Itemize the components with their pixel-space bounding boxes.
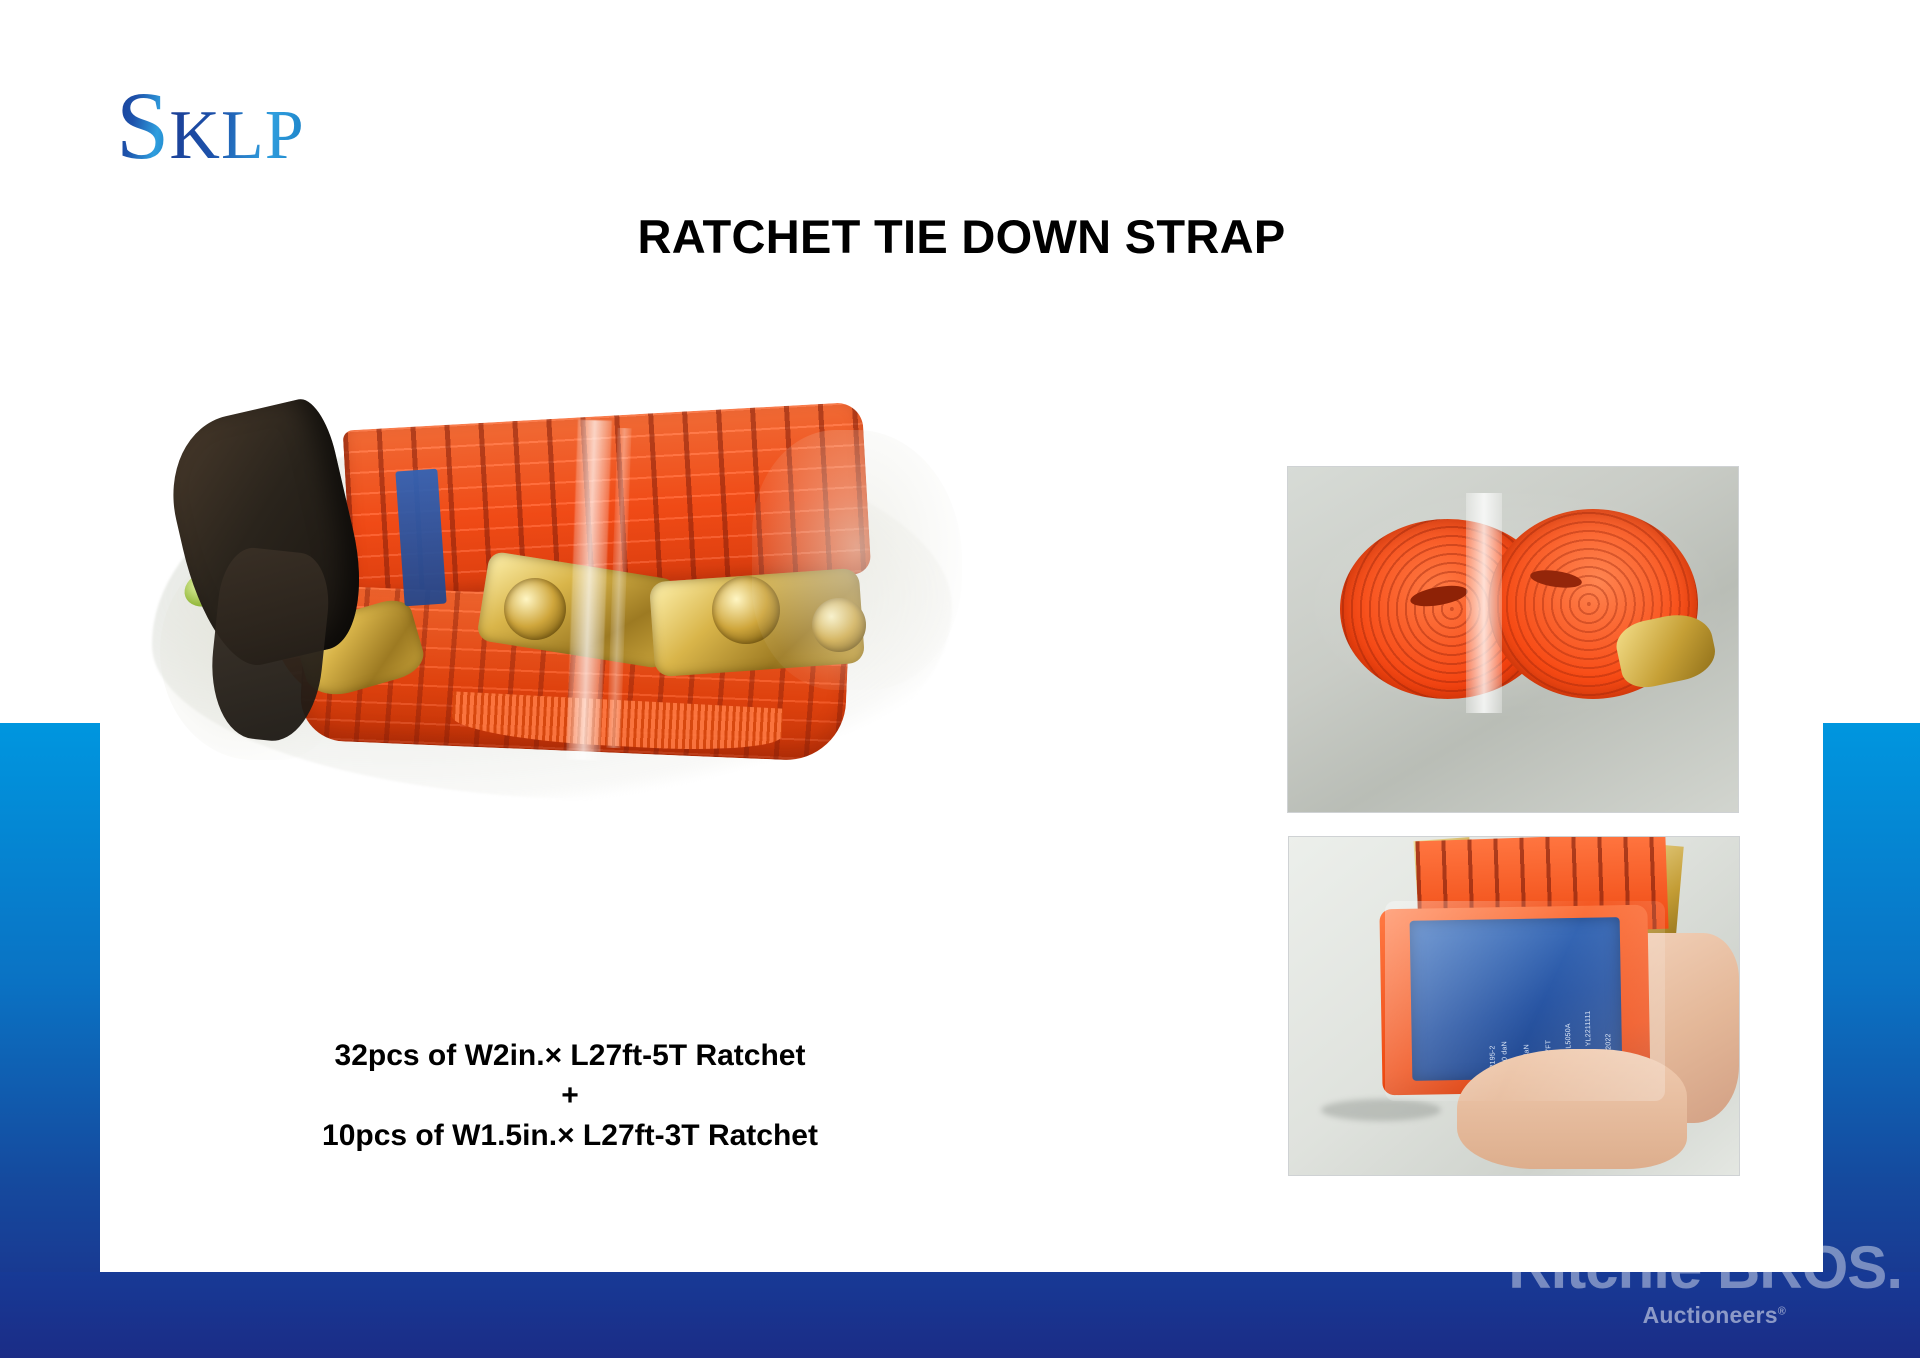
page-title: RATCHET TIE DOWN STRAP bbox=[100, 209, 1823, 264]
plastic-wrap-right bbox=[752, 430, 962, 690]
thumbnail-hand-holding-label[interactable]: EN 12195-2 LC 5000 daN Sₕf 350 daN Lengt… bbox=[1288, 836, 1740, 1176]
sklp-logo: SKLP bbox=[116, 78, 305, 174]
decorative-band-right bbox=[1823, 723, 1920, 1358]
product-caption: 32pcs of W2in.× L27ft-5T Ratchet + 10pcs… bbox=[100, 1036, 1040, 1156]
decorative-band-bottom bbox=[0, 1272, 1920, 1358]
logo-lead-letter: S bbox=[116, 72, 169, 179]
caption-line-3: 10pcs of W1.5in.× L27ft-3T Ratchet bbox=[100, 1116, 1040, 1156]
product-slide: SKLP RATCHET TIE DOWN STRAP 32pcs of W2i… bbox=[0, 0, 1920, 1358]
main-product-photo bbox=[152, 400, 952, 820]
logo-rest-letters: KLP bbox=[169, 97, 304, 174]
thumb2-surface-smudge bbox=[1321, 1099, 1441, 1121]
thumb1-wrap-band bbox=[1466, 493, 1502, 713]
caption-line-2: + bbox=[100, 1076, 1040, 1116]
thumbnail-coiled-strap[interactable] bbox=[1287, 466, 1739, 813]
thumb2-plastic-sheen bbox=[1385, 901, 1665, 1101]
ratchet-gear-1 bbox=[504, 578, 566, 640]
caption-line-1: 32pcs of W2in.× L27ft-5T Ratchet bbox=[100, 1036, 1040, 1076]
decorative-band-left bbox=[0, 723, 100, 1358]
